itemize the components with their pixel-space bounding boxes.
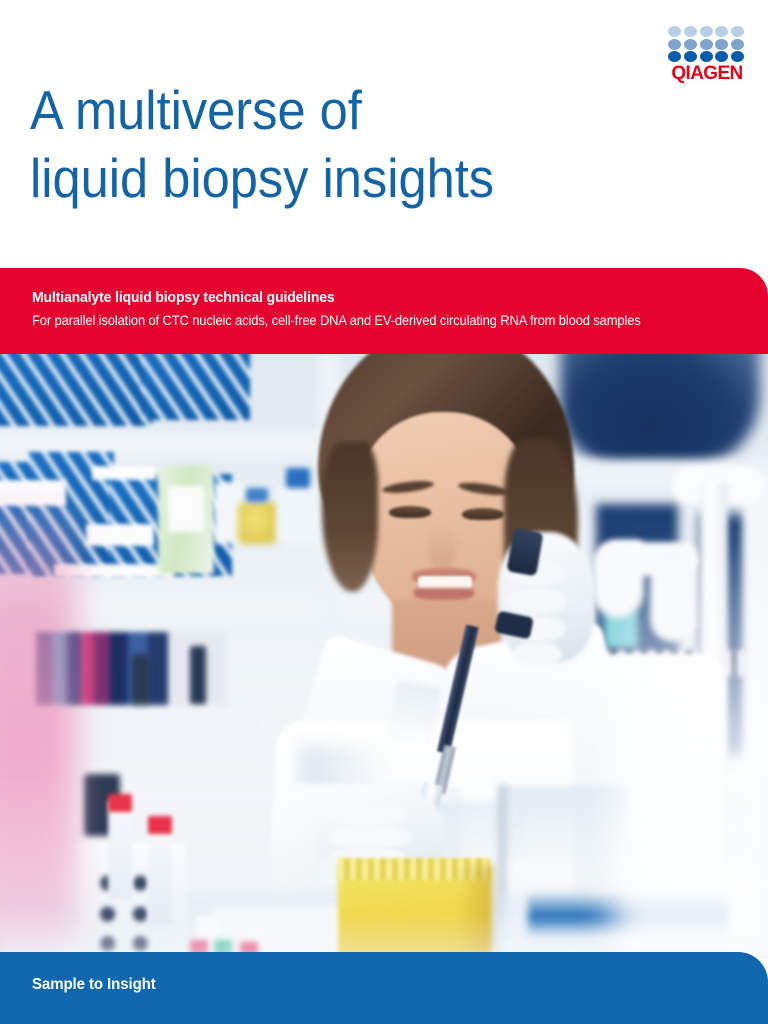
title-line-2: liquid biopsy insights <box>30 144 637 212</box>
sample-tube <box>108 800 132 900</box>
subtitle-banner: Multianalyte liquid biopsy technical gui… <box>0 268 768 354</box>
glove-finger <box>506 588 568 614</box>
reagent-bottle-yellow <box>238 502 280 544</box>
logo-dot <box>731 39 744 50</box>
logo-dot <box>700 51 713 62</box>
foreground-blur-white <box>612 550 768 958</box>
scientist-eye <box>462 508 504 520</box>
title-line-1: A multiverse of <box>30 76 637 144</box>
qiagen-logo: QIAGEN <box>668 26 746 84</box>
sample-tube <box>148 824 172 926</box>
logo-dot <box>715 51 728 62</box>
reagent-bottle <box>276 486 320 544</box>
logo-dot-row <box>668 26 744 37</box>
sample-tube-cap <box>108 794 132 812</box>
box-label <box>168 486 204 532</box>
footer-bar: Sample to Insight <box>0 952 768 1024</box>
cover-page: QIAGEN A multiverse of liquid biopsy ins… <box>0 0 768 1024</box>
cover-photo <box>0 354 768 958</box>
logo-dot <box>684 51 697 62</box>
box-label <box>86 524 154 546</box>
glove-finger <box>328 826 410 848</box>
foreground-blur-pink <box>0 504 76 958</box>
logo-dot-row <box>668 39 744 50</box>
reagent-box <box>142 354 250 420</box>
logo-dot-row <box>668 51 744 62</box>
logo-dot <box>715 26 728 37</box>
footer-tagline: Sample to Insight <box>32 976 156 994</box>
bottle-cap <box>286 468 310 488</box>
logo-dot <box>668 51 681 62</box>
glove-finger <box>330 804 408 826</box>
logo-dot <box>715 39 728 50</box>
logo-dot <box>731 51 744 62</box>
reagent-box <box>0 354 152 426</box>
page-title: A multiverse of liquid biopsy insights <box>30 76 690 212</box>
logo-dot <box>700 26 713 37</box>
box-label <box>0 480 66 506</box>
logo-dot <box>700 39 713 50</box>
box-label <box>92 466 156 480</box>
logo-dot <box>668 39 681 50</box>
logo-dot <box>668 26 681 37</box>
scientist-eye <box>389 506 431 518</box>
sample-tube-cap <box>148 816 172 834</box>
glove-finger <box>512 642 562 666</box>
banner-subhead: For parallel isolation of CTC nucleic ac… <box>32 311 735 331</box>
scientist-nose <box>428 524 456 568</box>
logo-dot <box>731 26 744 37</box>
logo-dot <box>684 39 697 50</box>
logo-dot-grid-icon <box>668 26 744 62</box>
lab-instrument <box>560 354 760 466</box>
lab-tube <box>132 654 150 708</box>
bottle-cap <box>246 488 268 502</box>
logo-dot <box>684 26 697 37</box>
banner-headline: Multianalyte liquid biopsy technical gui… <box>32 289 739 308</box>
lab-tube <box>190 646 206 706</box>
